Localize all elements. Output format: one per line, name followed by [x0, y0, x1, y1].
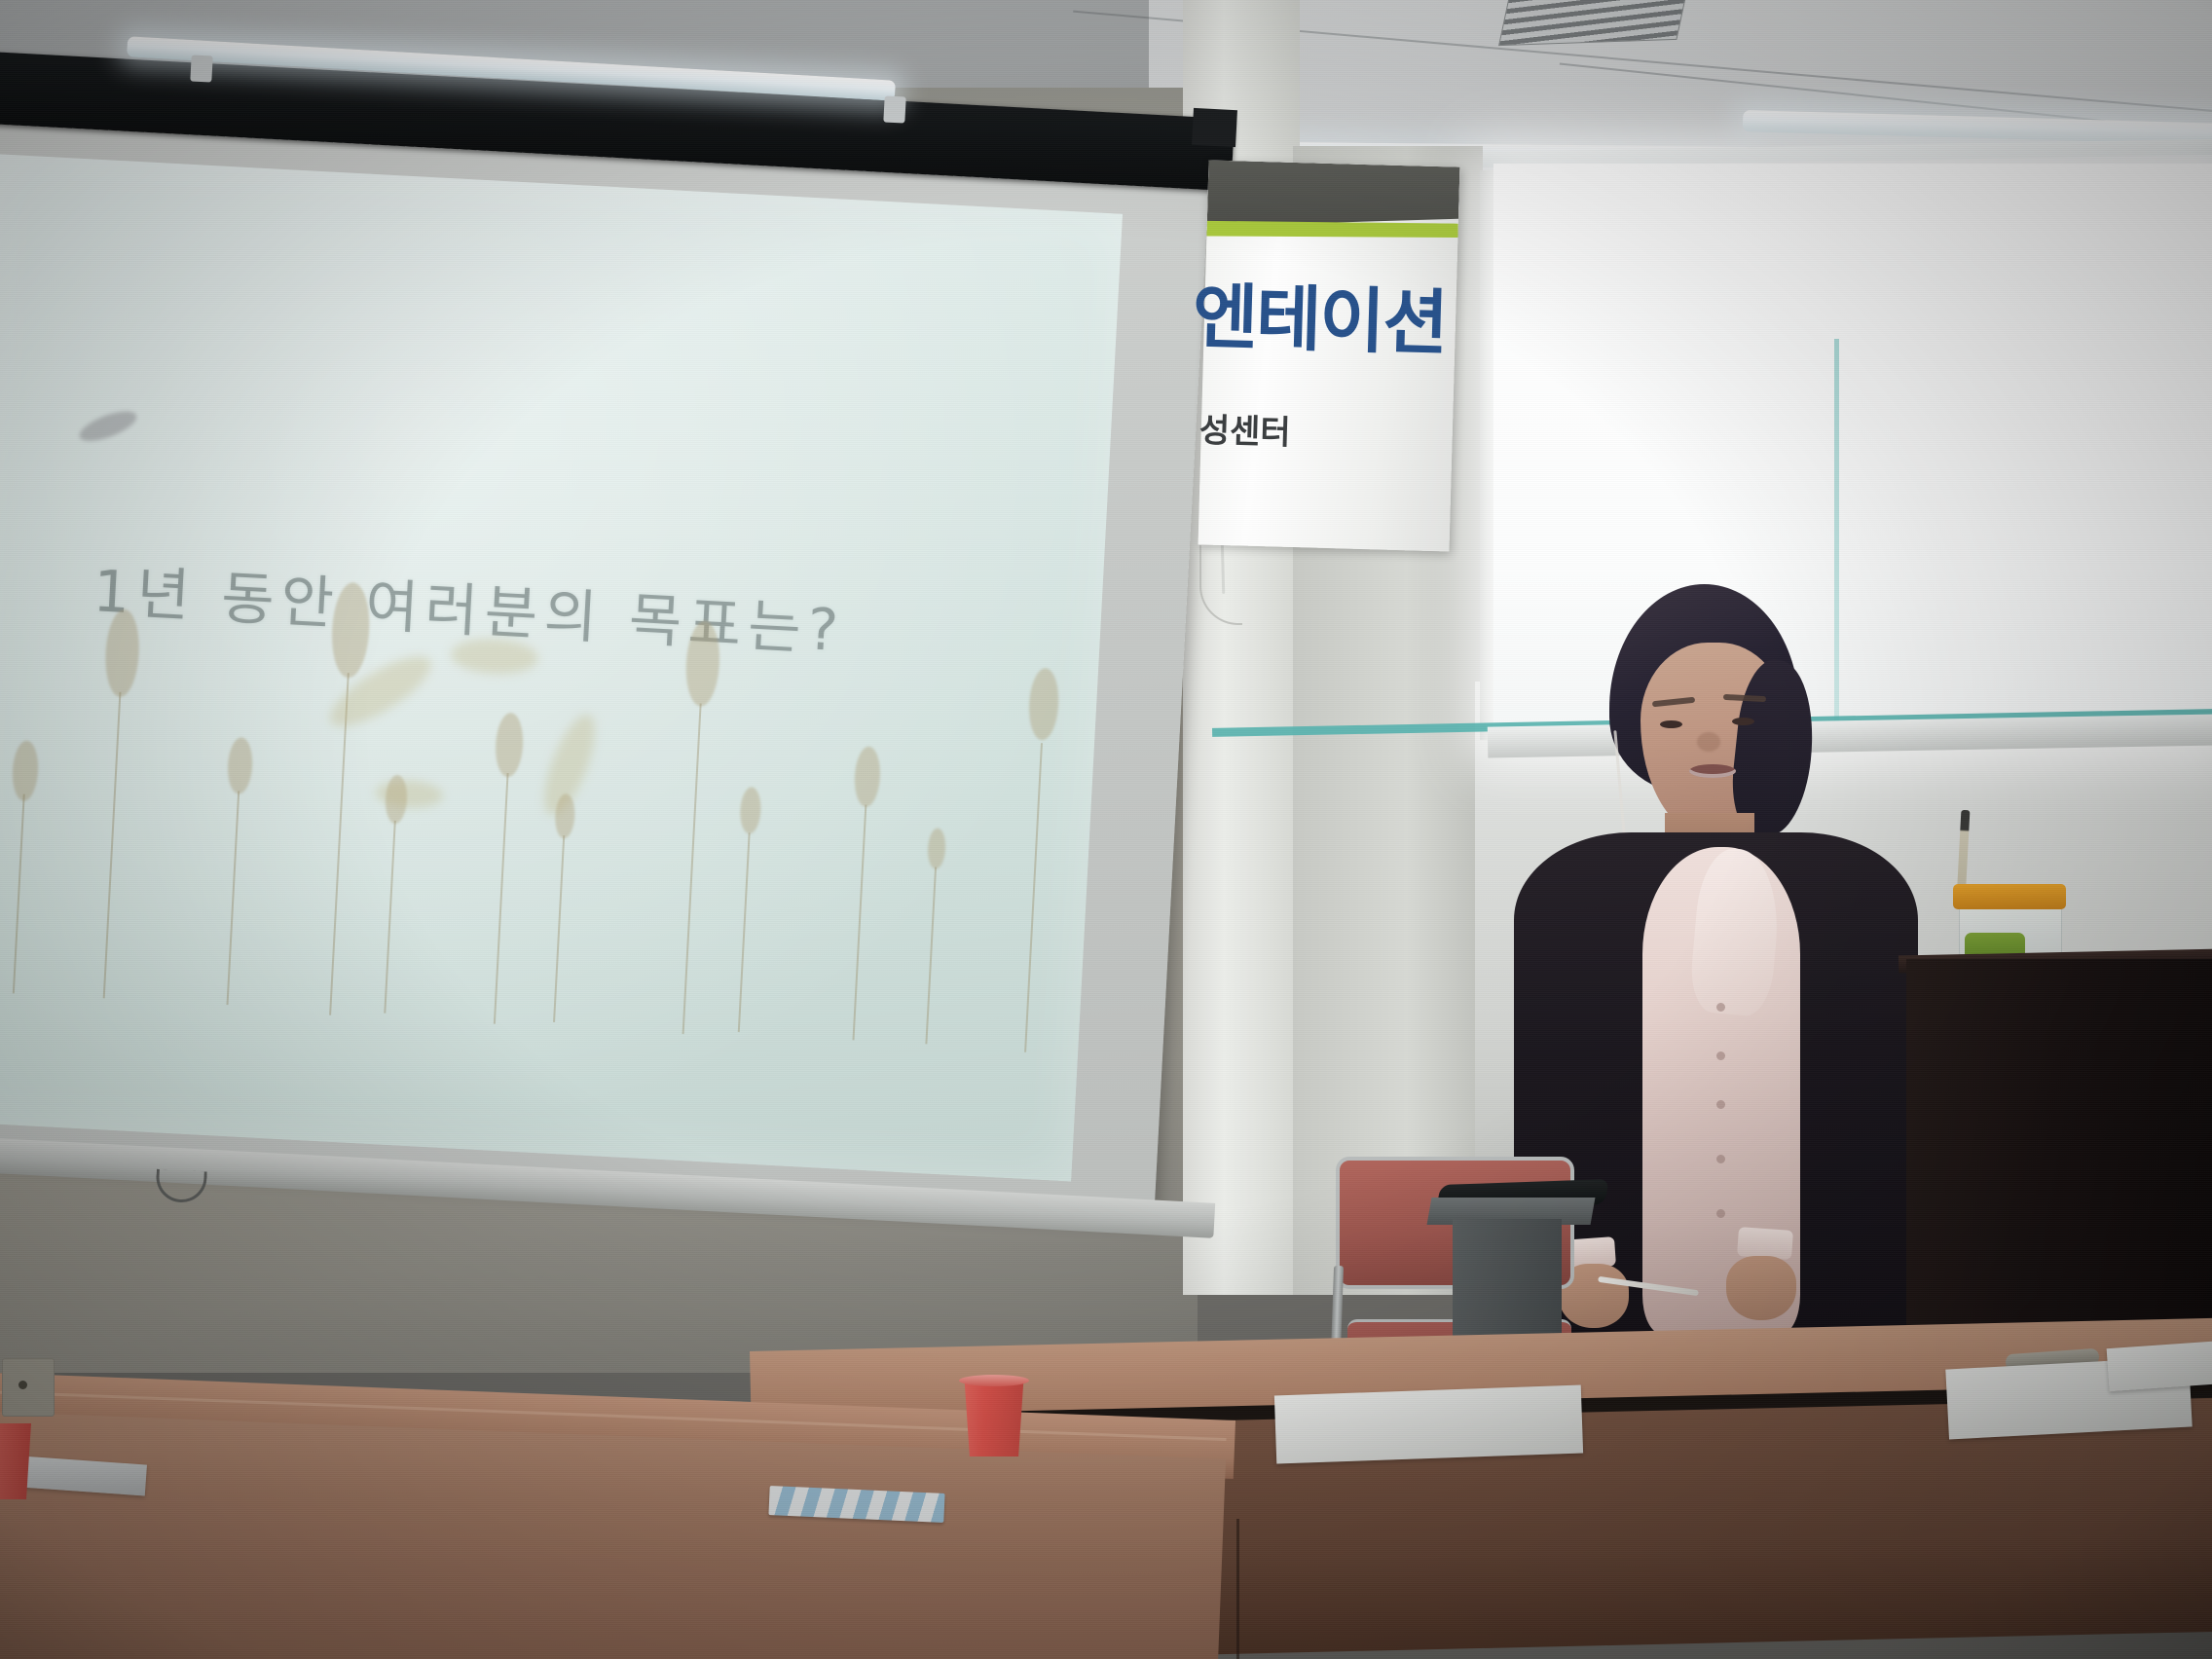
- slide-flower: [208, 736, 262, 1006]
- cuff-right: [1737, 1227, 1793, 1260]
- blouse-button: [1716, 1051, 1725, 1060]
- mouth: [1689, 764, 1736, 778]
- flower-stem: [738, 832, 751, 1032]
- flower-head-icon: [330, 581, 372, 679]
- flower-stem: [682, 703, 702, 1034]
- blouse-button: [1716, 1155, 1725, 1163]
- banner-title-line: 엔테이션: [1192, 259, 1467, 370]
- screen-housing-end-cap: [1192, 108, 1237, 147]
- slide-flower: [660, 619, 729, 1035]
- banner-subtitle-line: 성센터: [1198, 403, 1472, 459]
- flower-stem: [925, 867, 937, 1045]
- slide-flower: [305, 581, 379, 1016]
- flower-head-icon: [853, 746, 881, 807]
- tube-end-cap: [190, 55, 212, 82]
- table-panel-divider: [1236, 1519, 1239, 1659]
- flower-stem: [553, 835, 565, 1022]
- slide-flower: [912, 828, 951, 1045]
- blouse-button: [1716, 1209, 1725, 1218]
- slide-flower: [475, 712, 531, 1025]
- paper-cup[interactable]: [962, 1381, 1026, 1456]
- flower-head-icon: [1027, 668, 1060, 741]
- flower-head-icon: [494, 712, 524, 777]
- power-outlet[interactable]: [2, 1358, 55, 1417]
- flower-head-icon: [227, 737, 254, 794]
- flower-head-icon: [927, 828, 946, 869]
- tube-end-cap: [883, 95, 905, 123]
- slide-flower: [82, 608, 147, 1000]
- flower-stem: [852, 805, 866, 1041]
- blouse-button: [1716, 1100, 1725, 1109]
- blouse-button: [1716, 1003, 1725, 1012]
- hand-right: [1726, 1256, 1796, 1320]
- slide-flower: [835, 746, 888, 1042]
- slide-flower: [0, 740, 47, 995]
- screen-smudge: [76, 405, 140, 447]
- lectern: [1906, 959, 2212, 1368]
- eye-left: [1660, 720, 1682, 728]
- flower-head-icon: [103, 608, 141, 698]
- flower-stem: [384, 821, 396, 1014]
- nose: [1697, 732, 1720, 752]
- hanging-banner: 엔테이션 성센터: [1198, 160, 1460, 551]
- jar-lid[interactable]: [1953, 884, 2066, 909]
- flower-stem: [103, 692, 122, 999]
- flower-head-icon: [684, 620, 722, 708]
- flower-head-icon: [11, 740, 39, 801]
- slide-flower: [1005, 667, 1066, 1053]
- eye-right: [1732, 718, 1754, 725]
- slide-flower: [723, 787, 767, 1033]
- flower-head-icon: [739, 787, 762, 834]
- slide-flower: [368, 774, 414, 1014]
- projection-screen: 1년 동안 여러분의 목표는?: [0, 92, 1210, 1218]
- photo-scene: 1년 동안 여러분의 목표는?: [0, 0, 2212, 1659]
- flower-stem: [227, 791, 240, 1005]
- flower-stem: [1024, 743, 1043, 1052]
- flower-stem: [13, 794, 25, 994]
- projected-slide: 1년 동안 여러분의 목표는?: [0, 154, 1123, 1181]
- flower-stem: [494, 773, 509, 1024]
- paper-sheet[interactable]: [1274, 1385, 1583, 1464]
- slide-flower: [538, 793, 581, 1022]
- paper-cup-rim: [959, 1375, 1029, 1386]
- air-vent-icon: [1498, 0, 1687, 46]
